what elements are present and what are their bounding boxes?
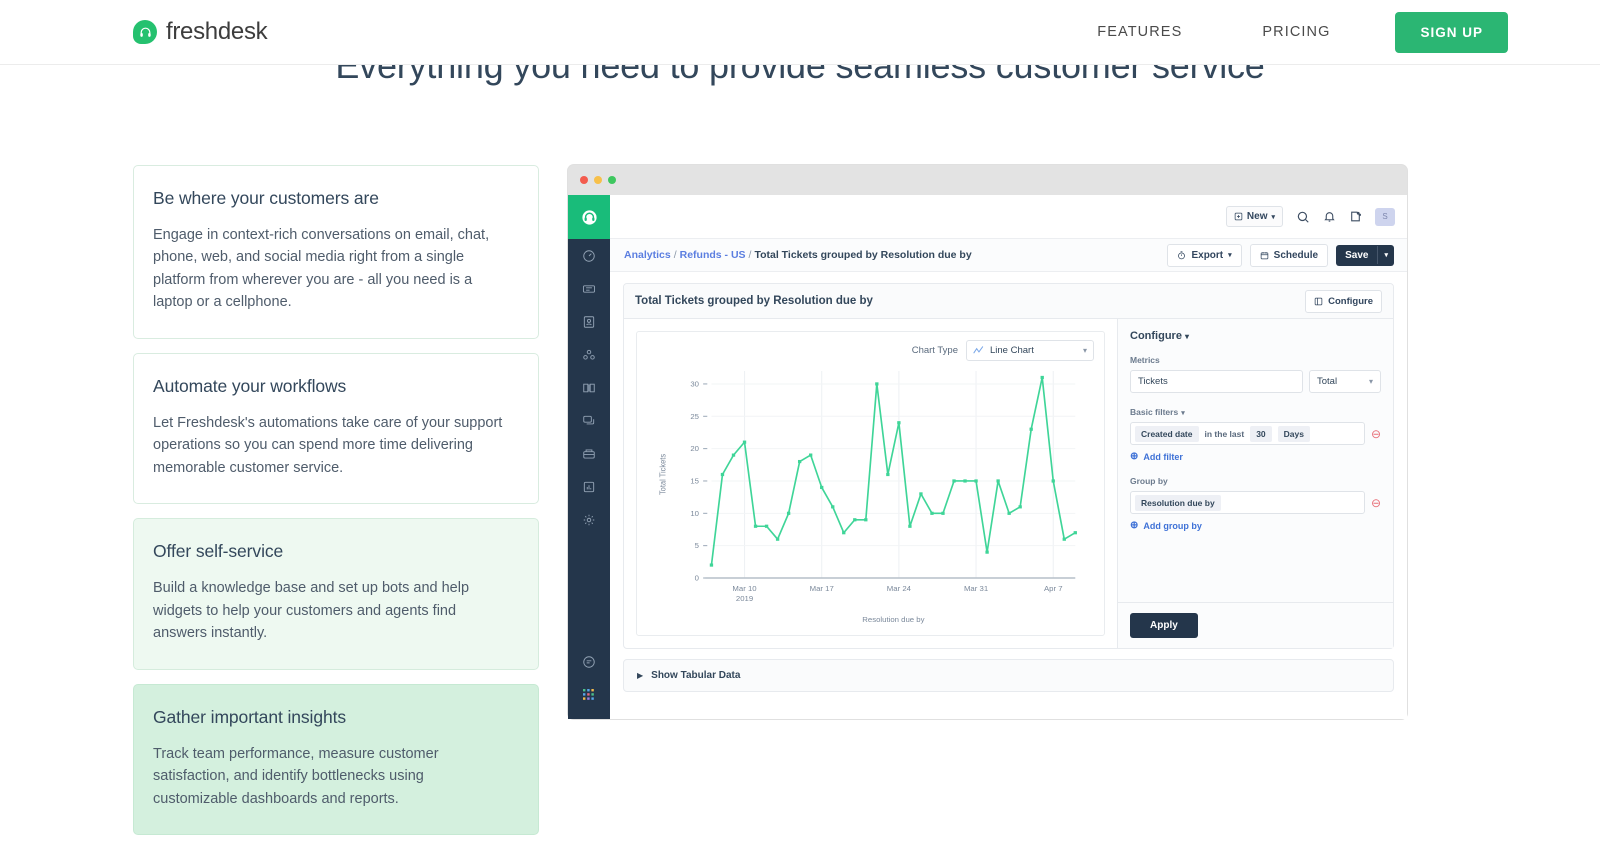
sidebar-item-support-chat-icon[interactable] — [568, 645, 610, 678]
group-by-chip: Resolution due by — [1135, 495, 1221, 511]
group-by-field[interactable]: Resolution due by — [1130, 491, 1365, 514]
metric-field[interactable]: Tickets — [1130, 370, 1303, 393]
schedule-button[interactable]: Schedule — [1250, 244, 1328, 267]
filter-operator: in the last — [1205, 429, 1245, 439]
site-header: freshdesk FEATURES PRICING SIGN UP — [0, 0, 1600, 65]
sidebar-item-chat-icon[interactable] — [568, 404, 610, 437]
breadcrumb: Analytics/Refunds - US/Total Tickets gro… — [624, 249, 972, 261]
triangle-right-icon: ▶ — [637, 671, 643, 680]
chart-type-value: Line Chart — [990, 345, 1034, 356]
sidebar-item-tickets-icon[interactable] — [568, 272, 610, 305]
sidebar-item-customers-icon[interactable] — [568, 338, 610, 371]
svg-text:2019: 2019 — [736, 594, 753, 603]
configure-panel-heading[interactable]: Configure▾ — [1130, 330, 1381, 342]
filter-field-chip: Created date — [1135, 426, 1199, 442]
breadcrumb-actions: Export ▾ Schedule Save ▾ — [1167, 244, 1394, 267]
svg-text:Resolution due by: Resolution due by — [862, 615, 924, 624]
svg-text:Mar 31: Mar 31 — [964, 584, 988, 593]
svg-text:Apr 7: Apr 7 — [1044, 584, 1063, 593]
page-root: Everything you need to provide seamless … — [0, 0, 1600, 847]
configure-button[interactable]: Configure — [1305, 290, 1382, 313]
chart-container: Chart Type Line Chart ▾ 051015202530Mar … — [636, 331, 1105, 636]
caret-down-icon: ▾ — [1181, 410, 1185, 417]
chevron-down-icon: ▾ — [1271, 213, 1275, 221]
svg-text:25: 25 — [690, 412, 699, 421]
breadcrumb-link-refunds[interactable]: Refunds - US — [680, 249, 746, 261]
breadcrumb-bar: Analytics/Refunds - US/Total Tickets gro… — [610, 239, 1407, 272]
report-panel: Total Tickets grouped by Resolution due … — [623, 283, 1394, 649]
window-close-icon[interactable] — [580, 176, 588, 184]
app-topbar: New ▾ S — [610, 195, 1407, 239]
avatar[interactable]: S — [1375, 208, 1395, 226]
svg-text:5: 5 — [695, 541, 699, 550]
nav-item-features[interactable]: FEATURES — [1057, 24, 1222, 40]
chart-type-row: Chart Type Line Chart ▾ — [647, 340, 1094, 361]
window-maximize-icon[interactable] — [608, 176, 616, 184]
chart-pane: Chart Type Line Chart ▾ 051015202530Mar … — [624, 319, 1117, 648]
svg-text:0: 0 — [695, 574, 699, 583]
feature-card: Gather important insights Track team per… — [133, 684, 539, 835]
feature-card: Be where your customers are Engage in co… — [133, 165, 539, 339]
feature-card-title: Offer self-service — [153, 541, 512, 562]
sidebar-item-settings-icon[interactable] — [568, 503, 610, 536]
brand-logo[interactable]: freshdesk — [133, 18, 267, 46]
feature-card-body: Engage in context-rich conversations on … — [153, 224, 512, 314]
report-header: Total Tickets grouped by Resolution due … — [624, 284, 1393, 319]
breadcrumb-separator: / — [674, 249, 677, 261]
filter-row: Created date in the last 30 Days ⊖ — [1130, 422, 1381, 445]
add-group-by-link[interactable]: ⊕ Add group by — [1130, 520, 1381, 531]
search-icon[interactable] — [1296, 210, 1310, 224]
basic-filters-text: Basic filters — [1130, 407, 1178, 417]
configure-panel: Configure▾ Metrics Tickets Total ▾ — [1117, 319, 1393, 648]
breadcrumb-separator: / — [749, 249, 752, 261]
app-mockup: New ▾ S Analytics/Re — [568, 165, 1407, 719]
metric-aggregation-select[interactable]: Total ▾ — [1309, 370, 1381, 393]
notifications-bell-icon[interactable] — [1323, 210, 1336, 223]
save-button-label: Save — [1336, 245, 1377, 266]
chevron-down-icon[interactable]: ▾ — [1377, 246, 1394, 264]
export-button-label: Export — [1191, 250, 1223, 261]
report-title: Total Tickets grouped by Resolution due … — [635, 295, 873, 307]
feature-card-title: Gather important insights — [153, 707, 512, 728]
feature-card-title: Be where your customers are — [153, 188, 512, 209]
svg-text:Mar 10: Mar 10 — [732, 584, 756, 593]
feature-card-body: Let Freshdesk's automations take care of… — [153, 412, 512, 479]
breadcrumb-link-analytics[interactable]: Analytics — [624, 249, 671, 261]
configure-spacer — [1130, 545, 1381, 602]
export-button[interactable]: Export ▾ — [1167, 244, 1241, 267]
save-button[interactable]: Save ▾ — [1336, 245, 1394, 266]
line-chart-svg: 051015202530Mar 102019Mar 17Mar 24Mar 31… — [647, 361, 1094, 626]
group-by-label: Group by — [1130, 476, 1381, 486]
svg-text:10: 10 — [690, 509, 699, 518]
feature-card-body: Build a knowledge base and set up bots a… — [153, 577, 512, 644]
feature-card-body: Track team performance, measure customer… — [153, 743, 512, 810]
sidebar-item-contacts-icon[interactable] — [568, 305, 610, 338]
sidebar-item-logo-headset-icon[interactable] — [568, 195, 610, 239]
plus-circle-icon: ⊕ — [1130, 451, 1138, 462]
report-body: Chart Type Line Chart ▾ 051015202530Mar … — [624, 319, 1393, 648]
metrics-label: Metrics — [1130, 355, 1381, 365]
svg-text:Mar 24: Mar 24 — [887, 584, 912, 593]
configure-heading-label: Configure — [1130, 330, 1182, 342]
remove-filter-icon[interactable]: ⊖ — [1371, 428, 1381, 440]
app-sidebar — [568, 195, 610, 719]
sidebar-item-knowledge-base-icon[interactable] — [568, 371, 610, 404]
feature-card: Automate your workflows Let Freshdesk's … — [133, 353, 539, 504]
svg-text:Mar 17: Mar 17 — [810, 584, 834, 593]
sidebar-item-apps-grid-icon[interactable] — [568, 678, 610, 711]
caret-down-icon: ▾ — [1185, 332, 1189, 341]
window-titlebar — [568, 165, 1407, 195]
chart-type-select[interactable]: Line Chart ▾ — [966, 340, 1094, 361]
feature-card-list: Be where your customers are Engage in co… — [133, 165, 539, 847]
app-body: New ▾ S Analytics/Re — [568, 195, 1407, 719]
plus-circle-icon: ⊕ — [1130, 520, 1138, 531]
sidebar-item-dashboard-icon[interactable] — [568, 239, 610, 272]
whats-new-icon[interactable] — [1349, 210, 1362, 223]
new-button-label: New — [1247, 211, 1268, 222]
app-main: New ▾ S Analytics/Re — [610, 195, 1407, 719]
configure-button-label: Configure — [1328, 296, 1373, 307]
sidebar-item-reports-icon[interactable] — [568, 470, 610, 503]
feature-card: Offer self-service Build a knowledge bas… — [133, 518, 539, 669]
chevron-down-icon: ▾ — [1228, 251, 1232, 259]
new-button[interactable]: New ▾ — [1226, 206, 1283, 227]
feature-card-title: Automate your workflows — [153, 376, 512, 397]
svg-text:Total Tickets: Total Tickets — [659, 454, 668, 495]
chart-plot: 051015202530Mar 102019Mar 17Mar 24Mar 31… — [647, 361, 1094, 626]
headset-icon — [133, 20, 157, 44]
breadcrumb-current: Total Tickets grouped by Resolution due … — [754, 249, 971, 261]
apply-row: Apply — [1118, 602, 1393, 648]
add-filter-link[interactable]: ⊕ Add filter — [1130, 451, 1381, 462]
brand-name: freshdesk — [166, 18, 267, 46]
remove-group-by-icon[interactable]: ⊖ — [1371, 497, 1381, 509]
apply-button[interactable]: Apply — [1130, 613, 1198, 638]
basic-filters-label[interactable]: Basic filters▾ — [1130, 407, 1381, 417]
chevron-down-icon: ▾ — [1083, 346, 1087, 355]
window-minimize-icon[interactable] — [594, 176, 602, 184]
show-tabular-data-label: Show Tabular Data — [651, 670, 740, 681]
chevron-down-icon: ▾ — [1369, 377, 1373, 386]
metrics-row: Tickets Total ▾ — [1130, 370, 1381, 393]
show-tabular-data-toggle[interactable]: ▶ Show Tabular Data — [623, 659, 1394, 692]
site-nav: FEATURES PRICING SIGN UP — [1057, 12, 1508, 53]
sidebar-item-social-inbox-icon[interactable] — [568, 437, 610, 470]
svg-text:15: 15 — [690, 477, 699, 486]
sign-up-button[interactable]: SIGN UP — [1395, 12, 1508, 53]
metric-aggregation-value: Total — [1317, 376, 1337, 387]
chart-type-label: Chart Type — [912, 345, 958, 356]
nav-item-pricing[interactable]: PRICING — [1222, 24, 1370, 40]
svg-text:20: 20 — [690, 444, 699, 453]
group-by-row: Resolution due by ⊖ — [1130, 491, 1381, 514]
add-filter-label: Add filter — [1143, 452, 1183, 462]
filter-field[interactable]: Created date in the last 30 Days — [1130, 422, 1365, 445]
svg-text:30: 30 — [690, 380, 699, 389]
add-group-by-label: Add group by — [1143, 521, 1202, 531]
filter-unit-chip: Days — [1278, 426, 1310, 442]
filter-value-chip: 30 — [1250, 426, 1271, 442]
schedule-button-label: Schedule — [1274, 250, 1318, 261]
